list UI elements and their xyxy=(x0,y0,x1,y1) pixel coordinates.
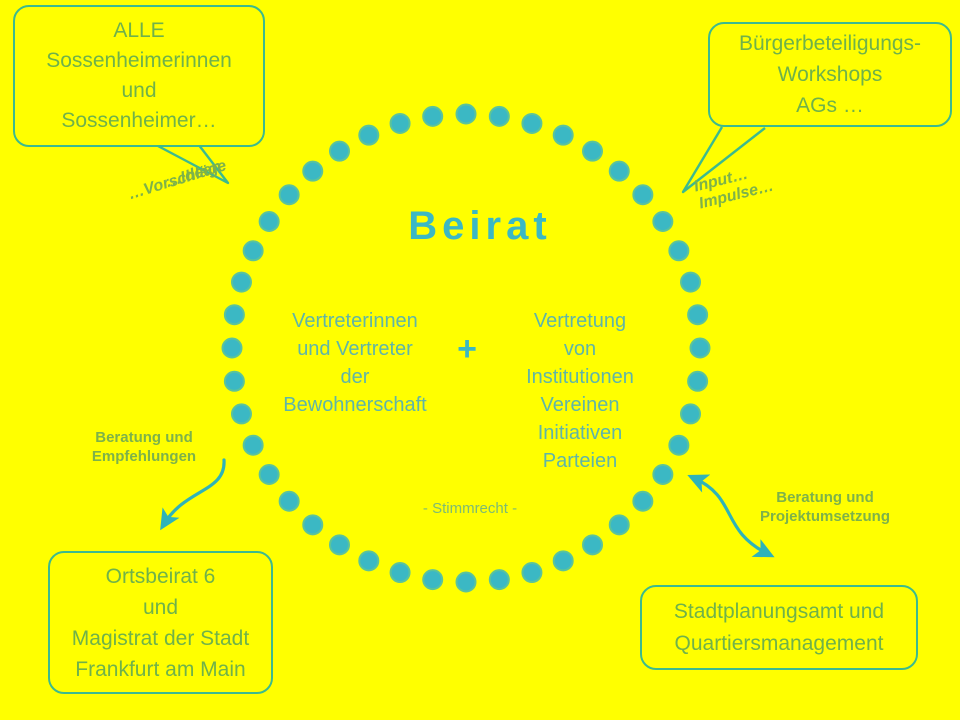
callout-citizens[interactable]: ALLE Sossenheimerinnen und Sossenheimer… xyxy=(13,5,265,147)
ring-dot xyxy=(681,273,700,292)
ring-dot xyxy=(490,570,509,589)
membership-residents-line-4: Bewohnerschaft xyxy=(272,391,438,419)
ring-dot xyxy=(423,570,442,589)
ring-dot xyxy=(633,492,652,511)
annotation-beratung-empfehlungen-line-2: Empfehlungen xyxy=(82,447,206,466)
ring-dot xyxy=(359,126,378,145)
callout-ortsbeirat-line-1: Ortsbeirat 6 xyxy=(106,561,216,592)
ring-dot xyxy=(232,404,251,423)
ring-dot xyxy=(554,126,573,145)
membership-institutions-line-3: Institutionen xyxy=(497,363,663,391)
diagram-title: Beirat xyxy=(0,204,960,249)
ring-dot xyxy=(522,563,541,582)
ring-dot xyxy=(691,339,710,358)
ring-dot xyxy=(423,107,442,126)
ring-dot xyxy=(244,436,263,455)
ring-dot xyxy=(688,372,707,391)
membership-institutions-line-1: Vertretung xyxy=(497,307,663,335)
membership-institutions-line-5: Initiativen xyxy=(497,419,663,447)
ring-dot xyxy=(330,142,349,161)
callout-citizens-line-4: Sossenheimer… xyxy=(61,106,216,136)
ring-dot xyxy=(359,551,378,570)
ring-dot xyxy=(583,142,602,161)
membership-column-institutions: Vertretung von Institutionen Vereinen In… xyxy=(497,307,663,475)
ring-dot xyxy=(490,107,509,126)
ring-dot xyxy=(457,105,476,124)
annotation-beratung-projekt-line-1: Beratung und xyxy=(751,488,899,507)
annotation-beratung-und-projektumsetzung: Beratung und Projektumsetzung xyxy=(751,488,899,526)
callout-workshops-line-3: AGs … xyxy=(796,90,864,121)
membership-institutions-line-6: Parteien xyxy=(497,447,663,475)
callout-citizens-line-2: Sossenheimerinnen xyxy=(46,46,232,76)
callout-ortsbeirat[interactable]: Ortsbeirat 6 und Magistrat der Stadt Fra… xyxy=(48,551,273,694)
ring-dot xyxy=(303,515,322,534)
ring-dot xyxy=(391,563,410,582)
callout-stadtplanungsamt-line-2: Quartiersmanagement xyxy=(675,628,884,660)
diagram-canvas: ALLE Sossenheimerinnen und Sossenheimer…… xyxy=(0,0,960,720)
callout-stadtplanungsamt[interactable]: Stadtplanungsamt und Quartiersmanagement xyxy=(640,585,918,670)
ring-dot xyxy=(232,273,251,292)
callout-citizens-line-1: ALLE xyxy=(113,16,164,46)
membership-residents-line-2: und Vertreter xyxy=(272,335,438,363)
annotation-beratung-projekt-line-2: Projektumsetzung xyxy=(751,507,899,526)
ring-dot xyxy=(260,465,279,484)
ring-dot xyxy=(225,305,244,324)
plus-symbol: + xyxy=(451,332,483,366)
callout-stadtplanungsamt-line-1: Stadtplanungsamt und xyxy=(674,596,884,628)
membership-institutions-line-2: von xyxy=(497,335,663,363)
ring-dot xyxy=(330,535,349,554)
ring-dot xyxy=(280,492,299,511)
callout-citizens-line-3: und xyxy=(121,76,156,106)
ring-dot xyxy=(610,162,629,181)
membership-column-residents: Vertreterinnen und Vertreter der Bewohne… xyxy=(272,307,438,419)
callout-workshops[interactable]: Bürgerbeteiligungs- Workshops AGs … xyxy=(708,22,952,127)
callout-ortsbeirat-line-2: und xyxy=(143,592,178,623)
annotation-beratung-empfehlungen-line-1: Beratung und xyxy=(82,428,206,447)
ring-dot xyxy=(225,372,244,391)
ring-dot xyxy=(583,535,602,554)
callout-workshops-line-1: Bürgerbeteiligungs- xyxy=(739,28,921,59)
ring-dot xyxy=(669,436,688,455)
membership-residents-line-1: Vertreterinnen xyxy=(272,307,438,335)
annotation-beratung-und-empfehlungen: Beratung und Empfehlungen xyxy=(82,428,206,466)
ring-dot xyxy=(391,114,410,133)
ring-dot xyxy=(522,114,541,133)
ring-dot xyxy=(610,515,629,534)
ring-dot xyxy=(280,185,299,204)
ring-dot xyxy=(223,339,242,358)
ring-dot xyxy=(554,551,573,570)
ring-dot xyxy=(303,162,322,181)
ring-dot xyxy=(681,404,700,423)
ring-dot xyxy=(688,305,707,324)
arrow-beratung-empfehlungen xyxy=(164,460,224,524)
ring-dot xyxy=(633,185,652,204)
callout-workshops-line-2: Workshops xyxy=(778,59,883,90)
membership-residents-line-3: der xyxy=(272,363,438,391)
callout-ortsbeirat-line-4: Frankfurt am Main xyxy=(75,654,245,685)
ring-dot xyxy=(457,573,476,592)
membership-institutions-line-4: Vereinen xyxy=(497,391,663,419)
voting-rights-note: - Stimmrecht - xyxy=(350,500,590,517)
callout-ortsbeirat-line-3: Magistrat der Stadt xyxy=(72,623,249,654)
